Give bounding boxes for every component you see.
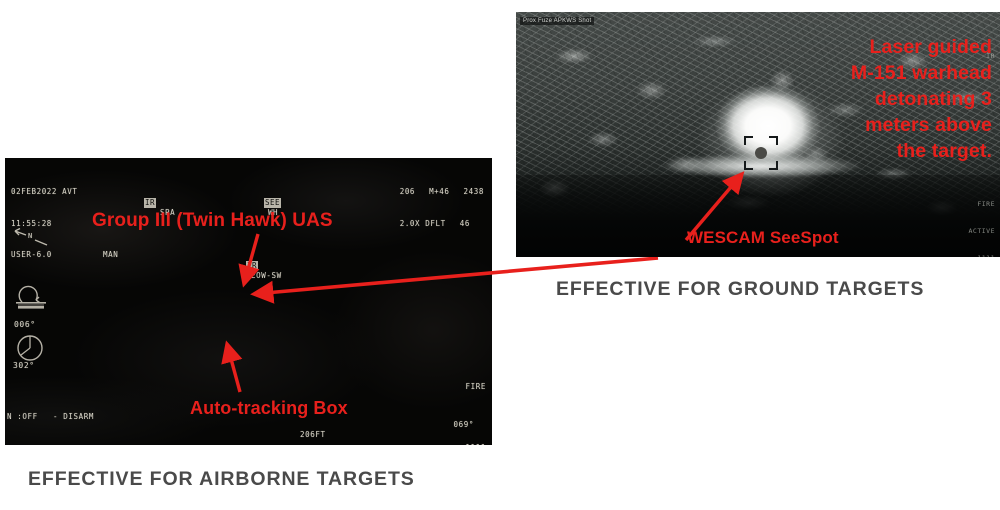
hud-arm-state: N :OFF - DISARM [7, 412, 104, 423]
roll-attitude-indicator [14, 288, 48, 322]
hud-heading-value: 069° [454, 420, 474, 431]
ground-hud-status-block: FIRE ACTIVE 1111 BORE VALID OFF NONE SEE… [951, 182, 995, 257]
hud-man-label: MAN [103, 250, 175, 261]
seespot-laser-dot [755, 147, 767, 159]
roll-value-label: 006° [14, 320, 36, 331]
ghud-fire: FIRE [951, 200, 995, 209]
hud-altitude-alt: 206FT [300, 430, 326, 441]
north-label: N [28, 231, 33, 242]
annotation-arrow-seespot [672, 166, 756, 246]
hud-see-badge: SEE [264, 198, 281, 209]
caption-airborne-targets: EFFECTIVE FOR AIRBORNE TARGETS [28, 468, 415, 491]
hud-fire-label: FIRE [435, 382, 486, 393]
hud-bottom-right-block: FIRE 1111 BORE VALID OFF NONE SEE VALID … [435, 361, 486, 445]
hud-store-code: 1111 [435, 443, 486, 446]
slide-canvas: 02FEB2022 AVT 11:55:28 USER-6.0 IR SPA M… [0, 0, 1000, 510]
hud-zoom-value: 206 [400, 187, 415, 198]
ghud-active: ACTIVE [951, 227, 995, 236]
hud-mag-offset: M+46 [429, 187, 449, 198]
annotation-auto-tracking-box: Auto-tracking Box [190, 398, 348, 419]
hud-ir-badge: IR [144, 198, 156, 209]
compass-dial-indicator [16, 334, 44, 362]
hud-user: USER-6.0 [11, 250, 78, 261]
hud-mag-value: 46 [460, 219, 470, 230]
ghud-code: 1111 [951, 254, 995, 257]
video-overlay-title: Prox Fuze APKWS Shot [520, 17, 594, 25]
hud-zoom-mode: 2.0X DFLT [400, 219, 446, 230]
hud-range-value: 2438 [464, 187, 484, 198]
caption-ground-targets: EFFECTIVE FOR GROUND TARGETS [556, 278, 924, 301]
north-arrow-indicator: N [13, 226, 59, 248]
seespot-crosshair [744, 136, 778, 170]
hud-date: 02FEB2022 AVT [11, 187, 78, 198]
annotation-arrow-tracking [218, 338, 254, 396]
compass-value-label: 302° [13, 361, 35, 372]
hud-top-left-block: 02FEB2022 AVT 11:55:28 USER-6.0 [11, 166, 78, 282]
annotation-laser-warhead: Laser guided M-151 warhead detonating 3 … [851, 34, 992, 164]
annotation-group3-uas: Group III (Twin Hawk) UAS [92, 210, 333, 232]
hud-top-right-block: 206 M+46 2438 2.0X DFLT 46 [400, 166, 484, 250]
hud-bottom-left-block: N :OFF - DISARM VEH 31.25880N 127' 105.2… [7, 391, 104, 445]
